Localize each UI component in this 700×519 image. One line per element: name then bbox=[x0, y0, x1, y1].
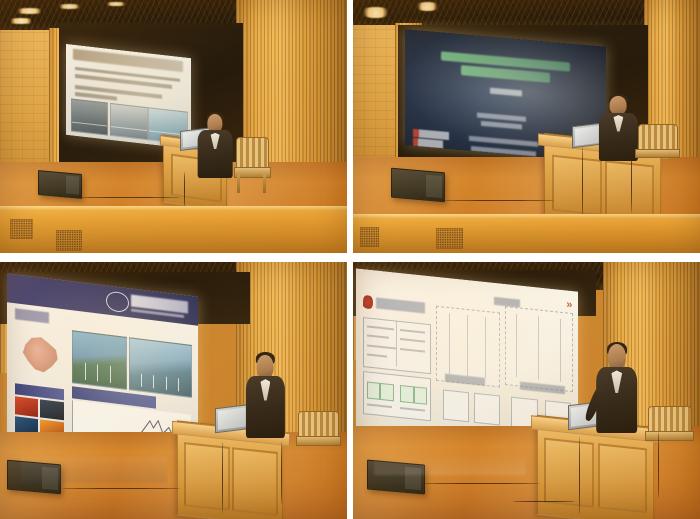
red-seal-logo-icon bbox=[363, 294, 373, 309]
slide-photo bbox=[110, 103, 148, 140]
floor-cable bbox=[513, 501, 575, 502]
podium-panel bbox=[597, 444, 647, 514]
projection-screen bbox=[66, 43, 191, 148]
ceiling-light bbox=[7, 18, 35, 23]
podium-cable bbox=[184, 172, 185, 207]
floor-monitor-speaker bbox=[7, 460, 61, 495]
ceiling-light bbox=[415, 2, 439, 11]
podium-panel bbox=[544, 438, 594, 508]
green-highlight-cell bbox=[381, 382, 394, 401]
floor-monitor-speaker bbox=[367, 460, 425, 495]
top-caption bbox=[494, 297, 521, 308]
turbine bbox=[141, 374, 142, 387]
apron-vent-grille bbox=[10, 219, 33, 238]
slide-body-line bbox=[75, 92, 117, 100]
chair-seat bbox=[296, 436, 341, 445]
china-map-graphic bbox=[15, 325, 65, 385]
lecture-hall-scene-1 bbox=[0, 0, 347, 253]
slide-author bbox=[490, 88, 522, 97]
thumbnail bbox=[15, 396, 39, 416]
lecture-hall-scene-2 bbox=[353, 0, 700, 253]
speaker-person bbox=[198, 114, 233, 177]
green-highlight-cell bbox=[368, 381, 381, 400]
flow-node bbox=[474, 392, 500, 425]
panel-top-right[interactable] bbox=[353, 0, 700, 253]
stage-apron-edge bbox=[353, 214, 700, 219]
lecture-hall-scene-3 bbox=[0, 262, 347, 519]
podium-cable bbox=[579, 437, 580, 514]
offshore-wind-farm-photo bbox=[129, 338, 192, 399]
laptop-screen bbox=[218, 407, 249, 430]
turbine bbox=[110, 366, 111, 383]
slide-heading-text bbox=[376, 297, 425, 313]
photo-horizon bbox=[111, 125, 147, 130]
floor-monitor-speaker bbox=[391, 167, 445, 202]
monitor-grille bbox=[405, 467, 422, 491]
podium-panel bbox=[604, 160, 654, 221]
flow-node bbox=[443, 389, 469, 422]
turbine bbox=[153, 375, 154, 388]
university-seal-icon bbox=[106, 291, 129, 314]
chair-leg bbox=[263, 174, 266, 193]
turbine bbox=[165, 377, 166, 390]
ceiling-light bbox=[104, 2, 128, 7]
apron-vent-grille bbox=[56, 230, 82, 251]
podium-panel bbox=[552, 155, 602, 216]
podium-cable bbox=[582, 147, 583, 218]
stage-apron bbox=[353, 216, 700, 253]
panel-top-left[interactable] bbox=[0, 0, 347, 253]
chair-seat bbox=[635, 149, 680, 158]
apron-vent-grille bbox=[360, 227, 379, 247]
speaker-person bbox=[246, 355, 284, 437]
slide-content bbox=[66, 43, 191, 148]
monitor-grille bbox=[427, 174, 443, 198]
map-shape bbox=[18, 330, 62, 381]
floor-cable bbox=[443, 200, 554, 201]
ceiling-light bbox=[360, 7, 391, 18]
slide-date bbox=[482, 121, 522, 130]
photo-collage: » bbox=[0, 0, 700, 519]
wooden-chair bbox=[298, 411, 336, 457]
chevron-right-icon: » bbox=[567, 298, 572, 311]
wind-farm-photo bbox=[72, 331, 127, 391]
stage-apron bbox=[0, 208, 347, 253]
stage-apron-edge bbox=[0, 206, 347, 211]
slide-photo bbox=[71, 99, 108, 136]
monitor-grille bbox=[42, 467, 58, 491]
chair-seat bbox=[645, 431, 694, 440]
wooden-chair bbox=[236, 137, 267, 193]
slide-section-title bbox=[15, 308, 49, 323]
turbine bbox=[178, 378, 179, 391]
turbine bbox=[97, 364, 98, 381]
monitor-grille bbox=[67, 176, 79, 195]
wooden-chair bbox=[638, 124, 676, 170]
chair-leg bbox=[237, 174, 240, 193]
floor-monitor-speaker bbox=[38, 170, 82, 199]
thumbnail bbox=[40, 400, 64, 420]
lecture-hall-scene-4: » bbox=[353, 262, 700, 519]
chair-back bbox=[236, 137, 269, 171]
turbine bbox=[85, 363, 86, 380]
speaker-person bbox=[596, 344, 638, 431]
panel-bottom-right[interactable]: » bbox=[353, 262, 700, 519]
green-highlight-cell bbox=[414, 386, 427, 405]
podium-panel bbox=[232, 448, 278, 516]
photo-horizon bbox=[72, 121, 107, 126]
speaker-person bbox=[599, 96, 637, 159]
wooden-chair bbox=[648, 406, 690, 452]
apron-vent-grille bbox=[436, 228, 462, 248]
panel-bottom-left[interactable] bbox=[0, 262, 347, 519]
green-highlight-cell bbox=[401, 384, 414, 403]
